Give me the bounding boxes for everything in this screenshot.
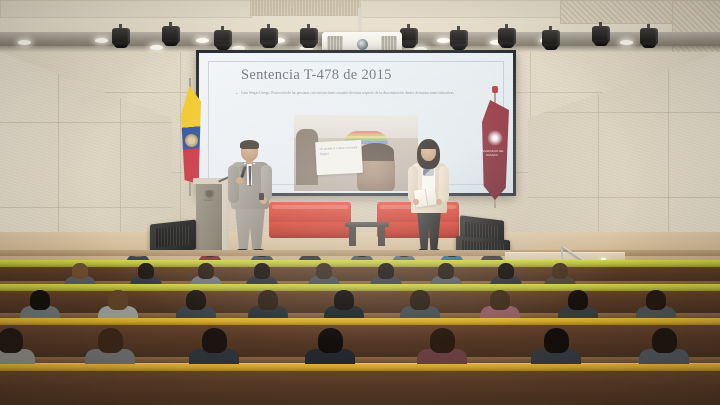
audience-member-head [490,290,510,310]
projector-lens [357,39,368,50]
university-banner: UNIVERSIDAD DEL ROSARIO [478,96,512,206]
red-bench-left [269,202,351,240]
audience-member-head [186,290,206,310]
audience-member-head [552,263,568,279]
slide-bullet-text: Caso Sergio Urrego. Protección de las pe… [241,91,481,97]
audience-member-head [254,263,270,279]
audience-desk-row[interactable] [0,364,720,405]
stage-light [496,24,518,50]
audience-member-head [0,328,23,353]
downlight [196,38,209,43]
male-speaker [228,141,272,259]
audience-member-head [410,290,430,310]
audience-member-head [334,290,354,310]
colombia-flag [178,84,204,192]
audience-member-head [430,328,455,353]
auditorium-photo: EPSON Sentencia T-478 de 2015 Caso Sergi… [0,0,720,405]
glasses-icon [242,148,257,152]
presentation-clicker [259,193,264,200]
audience-member-head [202,328,227,353]
audience-member-head [568,290,588,310]
lectern-logo-label: Rosario [198,199,220,202]
audience-member-head [258,290,278,310]
stage-light [160,22,182,48]
slide-title: Sentencia T-478 de 2015 [241,67,392,84]
projector-mount [358,8,362,34]
downlight [18,40,31,45]
audience-member-head [498,263,514,279]
protest-sign: No podrás ir a mirar a mi papá Bogotá [315,140,363,175]
audience-member-head [138,263,154,279]
audience-member-head [652,328,677,353]
stage-light [638,24,660,50]
audience-member-head [72,263,88,279]
stage-light [212,26,234,52]
audience-seating [0,256,720,405]
downlight [620,40,633,45]
downlight [95,38,108,43]
lectern: Rosario [196,178,228,256]
coffee-table [345,222,389,248]
audience-member-head [378,263,394,279]
audience-member-head [30,290,50,310]
university-banner-label: UNIVERSIDAD DEL ROSARIO [480,150,504,158]
audience-member-head [316,263,332,279]
stage-light [258,24,280,50]
stage-light [540,26,562,52]
audience-member-head [646,290,666,310]
stage-light [448,26,470,52]
university-crest-icon [487,130,503,146]
protest-sign-text: No podrás ir a mirar a mi papá Bogotá [319,145,358,156]
stage-light [590,22,612,48]
audience-member-head [544,328,569,353]
audience-member-head [438,263,454,279]
lectern-logo-icon [203,190,216,199]
stage-light [110,24,132,50]
audience-member-head [108,290,128,310]
stage-light [298,24,320,50]
audience-member-head [98,328,123,353]
slide-photograph: No podrás ir a mirar a mi papá Bogotá [294,115,418,191]
desk-top-surface [0,364,720,371]
audience-member-head [318,328,343,353]
audience-member-head [198,263,214,279]
female-speaker [408,141,450,259]
